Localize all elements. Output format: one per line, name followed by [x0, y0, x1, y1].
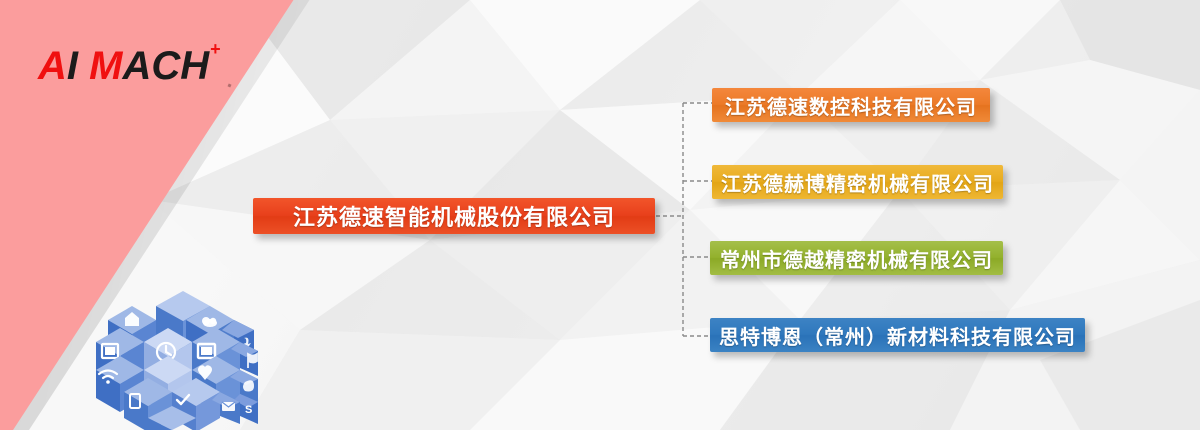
org-node-child-3-label: 常州市德越精密机械有限公司 [710, 244, 1003, 273]
org-node-child-2-label: 江苏德赫博精密机械有限公司 [712, 168, 1003, 197]
logo-letters-ach: ACH [122, 44, 209, 88]
org-node-root-label: 江苏德速智能机械股份有限公司 [253, 200, 655, 232]
org-node-root[interactable]: 江苏德速智能机械股份有限公司 [253, 198, 655, 234]
brand-logo: AI MACH+ [38, 46, 220, 86]
logo-letter-m: M [89, 44, 122, 88]
logo-letter-i: I [67, 44, 78, 88]
svg-text:S: S [245, 404, 252, 416]
org-node-child-1[interactable]: 江苏德速数控科技有限公司 [712, 88, 990, 122]
logo-plus-icon: + [210, 39, 221, 59]
company-structure-banner: AI MACH+ [0, 0, 1200, 430]
logo-space [78, 44, 89, 88]
logo-letter-a: A [38, 44, 67, 88]
org-node-child-3[interactable]: 常州市德越精密机械有限公司 [710, 241, 1003, 275]
3d-icon-cube: S [88, 282, 278, 430]
org-node-child-4-label: 思特博恩（常州）新材料科技有限公司 [710, 321, 1085, 350]
org-node-child-4[interactable]: 思特博恩（常州）新材料科技有限公司 [710, 318, 1085, 352]
org-node-child-2[interactable]: 江苏德赫博精密机械有限公司 [712, 165, 1003, 199]
org-node-child-1-label: 江苏德速数控科技有限公司 [712, 91, 990, 120]
